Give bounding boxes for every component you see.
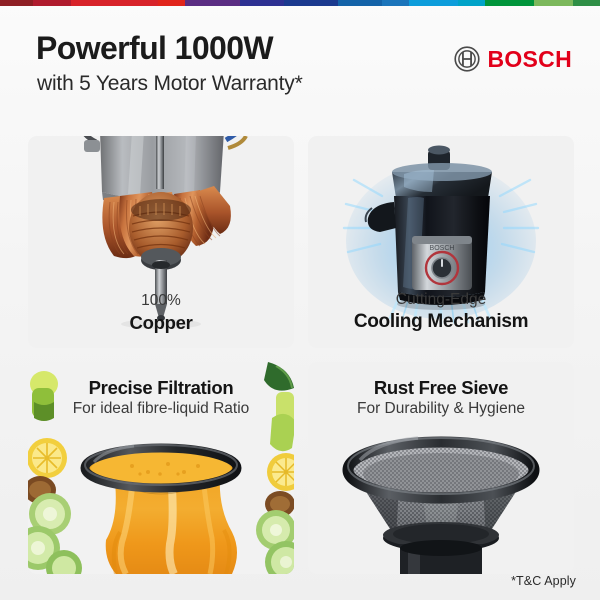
color-bar-segment-1 [33,0,71,6]
card-sub-label: Cutting-Edge [308,290,574,310]
feature-card-rust-free-sieve: Rust Free Sieve For Durability & Hygiene [308,362,574,574]
header: Powerful 1000W with 5 Years Motor Warran… [0,18,600,104]
feature-card-grid: 100% Copper [28,136,574,574]
caption-rust-free-sieve: Rust Free Sieve For Durability & Hygiene [308,376,574,419]
color-bar-segment-11 [485,0,534,6]
color-bar-segment-4 [185,0,240,6]
bosch-armature-icon [454,46,480,72]
caption-cooling-mechanism: Cutting-Edge Cooling Mechanism [308,290,574,334]
color-bar-segment-13 [573,0,600,6]
promo-banner: Powerful 1000W with 5 Years Motor Warran… [0,0,600,600]
caption-copper-motor: 100% Copper [28,291,294,334]
color-bar-segment-6 [284,0,339,6]
feature-card-cooling-mechanism: BOSCH Cutting-Edge Cooling Mechanism [308,136,574,348]
feature-card-precise-filtration: Precise Filtration For ideal fibre-liqui… [28,362,294,574]
card-sub-label: For ideal fibre-liquid Ratio [28,399,294,419]
color-bar-segment-12 [534,0,572,6]
color-bar-segment-10 [458,0,485,6]
color-bar-segment-9 [409,0,458,6]
card-main-label: Rust Free Sieve [308,376,574,399]
feature-card-copper-motor: 100% Copper [28,136,294,348]
terms-note: *T&C Apply [511,574,576,588]
brand-color-bar [0,0,600,6]
card-main-label: Cooling Mechanism [308,310,574,334]
card-main-label: Copper [28,311,294,334]
card-main-label: Precise Filtration [28,376,294,399]
color-bar-segment-0 [0,0,33,6]
card-sub-label: 100% [28,291,294,311]
caption-precise-filtration: Precise Filtration For ideal fibre-liqui… [28,376,294,419]
color-bar-segment-7 [338,0,382,6]
bosch-wordmark: BOSCH [487,48,572,71]
card-sub-label: For Durability & Hygiene [308,399,574,419]
color-bar-segment-8 [382,0,409,6]
page-title: Powerful 1000W [36,30,273,67]
color-bar-segment-5 [240,0,284,6]
color-bar-segment-2 [71,0,158,6]
bosch-logo: BOSCH [454,46,572,72]
page-subtitle: with 5 Years Motor Warranty* [37,72,303,96]
color-bar-segment-3 [158,0,185,6]
